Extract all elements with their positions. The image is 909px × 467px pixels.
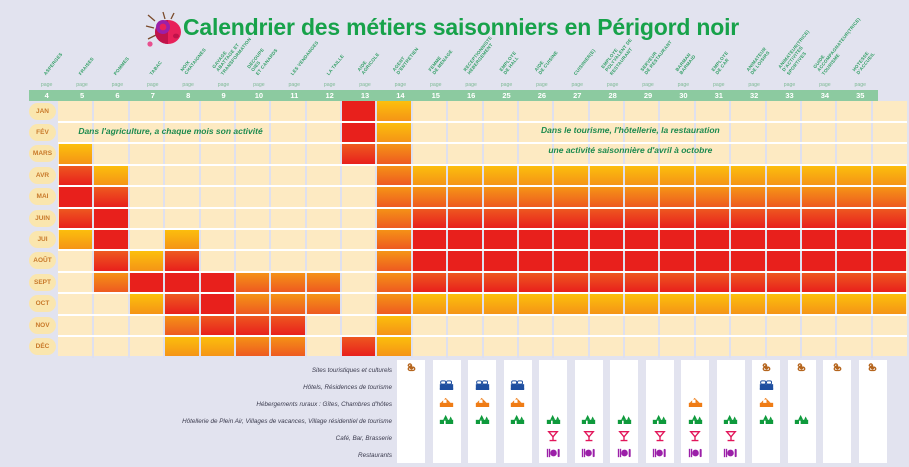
heat-cell[interactable] xyxy=(837,208,870,228)
grid-row-separator xyxy=(58,292,907,294)
column-header-6[interactable]: POMMESpage xyxy=(100,18,135,90)
heat-cell[interactable] xyxy=(519,251,552,271)
heat-cell[interactable] xyxy=(519,187,552,207)
heat-cell[interactable] xyxy=(448,208,481,228)
heat-cell[interactable] xyxy=(448,294,481,314)
heat-cell[interactable] xyxy=(377,315,410,335)
grid-row-separator xyxy=(58,249,907,251)
heat-cell[interactable] xyxy=(236,336,269,356)
column-header-12[interactable]: LA TAILLEpage xyxy=(312,18,347,90)
grid-row-separator xyxy=(58,185,907,187)
column-header-31[interactable]: EMPLOYEDE CARpage xyxy=(701,18,736,90)
heat-cell[interactable] xyxy=(696,208,729,228)
column-header-28[interactable]: EMPLOYEPOLYVALENT DERESTAURANTpage xyxy=(595,18,630,90)
heat-cell[interactable] xyxy=(554,208,587,228)
page-number-14[interactable]: 14 xyxy=(383,90,418,101)
column-header-35[interactable]: HOTESSED'ACCUEILpage xyxy=(843,18,878,90)
legend-icon-column[interactable] xyxy=(468,360,496,463)
heat-cell[interactable] xyxy=(201,294,234,314)
column-header-16[interactable]: RECEPTIONNISTEHEBERGEMENTpage xyxy=(454,18,489,90)
column-page-word: page xyxy=(737,82,772,88)
cocktail-glass-icon xyxy=(717,430,745,447)
heat-cell[interactable] xyxy=(802,294,835,314)
heat-cell[interactable] xyxy=(837,229,870,249)
heat-cell[interactable] xyxy=(696,187,729,207)
heat-cell[interactable] xyxy=(271,315,304,335)
heat-cell[interactable] xyxy=(767,272,800,292)
heat-cell[interactable] xyxy=(94,251,127,271)
heat-cell[interactable] xyxy=(767,165,800,185)
month-label-JAN[interactable]: JAN xyxy=(29,103,56,120)
heat-cell[interactable] xyxy=(448,272,481,292)
heat-cell[interactable] xyxy=(802,272,835,292)
heat-cell[interactable] xyxy=(413,251,446,271)
legend-label-hotel: Hôtels, Résidences de tourisme xyxy=(127,384,392,391)
column-page-word: page xyxy=(100,82,135,88)
page-number-15[interactable]: 15 xyxy=(418,90,453,101)
campsite-icon xyxy=(752,413,780,430)
legend-label-cutlery: Restaurants xyxy=(127,452,392,459)
heat-cell[interactable] xyxy=(873,187,906,207)
column-header-32[interactable]: ANIMATEURDE LOISIRSpage xyxy=(737,18,772,90)
heat-cell[interactable] xyxy=(696,229,729,249)
column-page-word: page xyxy=(630,82,665,88)
heat-cell[interactable] xyxy=(236,315,269,335)
rural-lodging-icon xyxy=(468,396,496,413)
hotel-icon xyxy=(433,379,461,396)
heat-cell[interactable] xyxy=(377,187,410,207)
heat-cell[interactable] xyxy=(660,229,693,249)
column-header-27[interactable]: CUISINIER(E)page xyxy=(560,18,595,90)
heat-cell[interactable] xyxy=(236,294,269,314)
grid-row-separator xyxy=(58,121,907,123)
heat-cell[interactable] xyxy=(484,165,517,185)
month-label-AOÛT[interactable]: AOÛT xyxy=(29,252,56,269)
heat-cell[interactable] xyxy=(413,229,446,249)
heat-cell[interactable] xyxy=(342,336,375,356)
heat-cell[interactable] xyxy=(413,208,446,228)
column-header-label: AIDEDE CUISINE xyxy=(533,47,559,76)
page-number-10[interactable]: 10 xyxy=(241,90,276,101)
legend-label-rural-lodging: Hébergements ruraux : Gîtes, Chambres d'… xyxy=(127,401,392,408)
heat-cell[interactable] xyxy=(201,272,234,292)
column-page-word: page xyxy=(454,82,489,88)
column-page-word: page xyxy=(807,82,842,88)
heat-cell[interactable] xyxy=(590,229,623,249)
legend-icon-column[interactable] xyxy=(433,360,461,463)
page-number-7[interactable]: 7 xyxy=(135,90,170,101)
page-number-33[interactable]: 33 xyxy=(772,90,807,101)
page-number-6[interactable]: 6 xyxy=(100,90,135,101)
cutlery-icon xyxy=(681,447,709,464)
heat-cell[interactable] xyxy=(731,229,764,249)
campsite-icon xyxy=(610,413,638,430)
heat-cell[interactable] xyxy=(307,272,340,292)
heat-cell[interactable] xyxy=(590,208,623,228)
campsite-icon xyxy=(575,413,603,430)
heat-cell[interactable] xyxy=(696,165,729,185)
sites-icon xyxy=(752,362,780,379)
heat-cell[interactable] xyxy=(802,251,835,271)
column-page-word: page xyxy=(560,82,595,88)
heat-cell[interactable] xyxy=(377,294,410,314)
heat-cell[interactable] xyxy=(484,294,517,314)
legend-icon-column[interactable] xyxy=(397,360,425,463)
legend-icon-column[interactable] xyxy=(610,360,638,463)
heat-cell[interactable] xyxy=(307,294,340,314)
cutlery-icon xyxy=(646,447,674,464)
heat-cell[interactable] xyxy=(484,229,517,249)
column-header-label: HOTESSED'ACCUEIL xyxy=(852,48,877,76)
heat-cell[interactable] xyxy=(625,187,658,207)
heat-cell[interactable] xyxy=(377,336,410,356)
month-label-JUIN[interactable]: JUIN xyxy=(29,210,56,227)
calendar-poster: Calendrier des métiers saisonniers en Pé… xyxy=(0,0,909,467)
heat-cell[interactable] xyxy=(94,187,127,207)
legend-icon-column[interactable] xyxy=(859,360,887,463)
heat-cell[interactable] xyxy=(413,294,446,314)
heat-cell[interactable] xyxy=(837,165,870,185)
cutlery-icon xyxy=(575,447,603,464)
hotel-icon xyxy=(504,379,532,396)
column-page-word: page xyxy=(524,82,559,88)
heat-cell[interactable] xyxy=(519,294,552,314)
month-label-MARS[interactable]: MARS xyxy=(29,145,56,162)
heat-cell[interactable] xyxy=(554,229,587,249)
page-number-25[interactable]: 25 xyxy=(489,90,524,101)
grid-row-separator xyxy=(58,164,907,166)
page-number-32[interactable]: 32 xyxy=(737,90,772,101)
heat-cell[interactable] xyxy=(377,101,410,121)
heat-cell[interactable] xyxy=(94,229,127,249)
column-page-word: page xyxy=(312,82,347,88)
heat-cell[interactable] xyxy=(873,208,906,228)
heat-cell[interactable] xyxy=(165,251,198,271)
campsite-icon xyxy=(433,413,461,430)
heat-cell[interactable] xyxy=(342,122,375,142)
heat-cell[interactable] xyxy=(165,315,198,335)
heat-cell[interactable] xyxy=(873,294,906,314)
tourism-note-line2: une activité saisonnière d'avril à octob… xyxy=(383,145,878,156)
heat-cell[interactable] xyxy=(554,272,587,292)
heat-cell[interactable] xyxy=(873,165,906,185)
column-header-33[interactable]: ANIMATEUR(TRICE)D'ACTIVITESSPORTIVESpage xyxy=(772,18,807,90)
heat-cell[interactable] xyxy=(59,208,92,228)
column-header-5[interactable]: FRAISESpage xyxy=(64,18,99,90)
campsite-icon xyxy=(717,413,745,430)
page-number-34[interactable]: 34 xyxy=(807,90,842,101)
heat-cell[interactable] xyxy=(590,294,623,314)
page-number-31[interactable]: 31 xyxy=(701,90,736,101)
legend-icon-column[interactable] xyxy=(823,360,851,463)
month-label-SEPT[interactable]: SEPT xyxy=(29,274,56,291)
heat-cell[interactable] xyxy=(731,187,764,207)
heat-cell[interactable] xyxy=(731,165,764,185)
column-header-label: FRAISES xyxy=(78,56,95,76)
rural-lodging-icon xyxy=(752,396,780,413)
rural-lodging-icon xyxy=(504,396,532,413)
month-label-NOV[interactable]: NOV xyxy=(29,317,56,334)
heat-cell[interactable] xyxy=(837,272,870,292)
heat-cell[interactable] xyxy=(519,272,552,292)
heat-cell[interactable] xyxy=(377,251,410,271)
heat-cell[interactable] xyxy=(484,251,517,271)
heat-cell[interactable] xyxy=(802,208,835,228)
heat-cell[interactable] xyxy=(731,208,764,228)
heat-cell[interactable] xyxy=(625,229,658,249)
heat-cell[interactable] xyxy=(484,187,517,207)
page-number-27[interactable]: 27 xyxy=(560,90,595,101)
heat-cell[interactable] xyxy=(767,229,800,249)
heat-cell[interactable] xyxy=(413,165,446,185)
page-number-9[interactable]: 9 xyxy=(206,90,241,101)
page-number-11[interactable]: 11 xyxy=(277,90,312,101)
column-header-8[interactable]: NOIXCHATAIGNESpage xyxy=(171,18,206,90)
legend-icon-column[interactable] xyxy=(575,360,603,463)
heat-cell[interactable] xyxy=(767,208,800,228)
heat-cell[interactable] xyxy=(767,187,800,207)
heat-cell[interactable] xyxy=(660,187,693,207)
campsite-icon xyxy=(788,413,816,430)
heat-cell[interactable] xyxy=(873,251,906,271)
heat-cell[interactable] xyxy=(590,251,623,271)
heat-cell[interactable] xyxy=(59,144,92,164)
heat-cell[interactable] xyxy=(94,165,127,185)
campsite-icon xyxy=(681,413,709,430)
heat-cell[interactable] xyxy=(377,272,410,292)
cocktail-glass-icon xyxy=(646,430,674,447)
column-header-30[interactable]: BARMANBARMAIDpage xyxy=(666,18,701,90)
sites-icon xyxy=(788,362,816,379)
legend-icon-column[interactable] xyxy=(504,360,532,463)
heat-cell[interactable] xyxy=(201,315,234,335)
column-header-26[interactable]: AIDEDE CUISINEpage xyxy=(524,18,559,90)
heat-cell[interactable] xyxy=(165,272,198,292)
heat-cell[interactable] xyxy=(660,294,693,314)
month-label-JUI[interactable]: JUI xyxy=(29,231,56,248)
heat-cell[interactable] xyxy=(342,144,375,164)
heat-cell[interactable] xyxy=(767,251,800,271)
heat-cell[interactable] xyxy=(873,229,906,249)
column-page-word: page xyxy=(666,82,701,88)
column-header-10[interactable]: DECOUPEOIESET CANARDSpage xyxy=(241,18,276,90)
page-number-12[interactable]: 12 xyxy=(312,90,347,101)
heat-cell[interactable] xyxy=(377,208,410,228)
heat-cell[interactable] xyxy=(696,272,729,292)
legend-icon-column[interactable] xyxy=(539,360,567,463)
page-number-28[interactable]: 28 xyxy=(595,90,630,101)
heat-cell[interactable] xyxy=(554,294,587,314)
heat-cell[interactable] xyxy=(731,294,764,314)
column-page-word: page xyxy=(171,82,206,88)
hotel-icon xyxy=(468,379,496,396)
heat-cell[interactable] xyxy=(448,251,481,271)
heat-cell[interactable] xyxy=(342,101,375,121)
cutlery-icon xyxy=(610,447,638,464)
cocktail-glass-icon xyxy=(681,430,709,447)
sites-icon xyxy=(397,362,425,379)
heat-cell[interactable] xyxy=(590,272,623,292)
column-header-7[interactable]: TABACpage xyxy=(135,18,170,90)
legend-icon-column[interactable] xyxy=(681,360,709,463)
column-header-29[interactable]: SERVEURDE RESTAURANTpage xyxy=(630,18,665,90)
heat-cell[interactable] xyxy=(696,251,729,271)
sites-icon xyxy=(823,362,851,379)
heat-cell[interactable] xyxy=(660,272,693,292)
page-number-5[interactable]: 5 xyxy=(64,90,99,101)
page-number-26[interactable]: 26 xyxy=(524,90,559,101)
page-number-29[interactable]: 29 xyxy=(630,90,665,101)
column-header-label: EMPLOYEDE CAR xyxy=(710,51,733,76)
legend-label-cocktail-glass: Café, Bar, Brasserie xyxy=(127,435,392,442)
column-page-word: page xyxy=(383,82,418,88)
page-number-4[interactable]: 4 xyxy=(29,90,64,101)
column-header-label: ANIMATEURDE LOISIRS xyxy=(746,46,772,76)
heat-cell[interactable] xyxy=(377,229,410,249)
page-number-8[interactable]: 8 xyxy=(171,90,206,101)
heat-cell[interactable] xyxy=(802,165,835,185)
column-header-34[interactable]: GUIDEACCOMPAGNATEUR(TRICE)TOURISMEpage xyxy=(807,18,842,90)
column-page-word: page xyxy=(206,82,241,88)
heat-cell[interactable] xyxy=(590,187,623,207)
heat-cell[interactable] xyxy=(519,229,552,249)
heat-cell[interactable] xyxy=(625,165,658,185)
month-label-MAI[interactable]: MAI xyxy=(29,188,56,205)
heat-cell[interactable] xyxy=(837,251,870,271)
heat-cell[interactable] xyxy=(767,294,800,314)
heat-cell[interactable] xyxy=(130,251,163,271)
column-page-word: page xyxy=(135,82,170,88)
heat-cell[interactable] xyxy=(165,294,198,314)
heat-cell[interactable] xyxy=(377,165,410,185)
column-header-25[interactable]: EMPLOYEDE HALLpage xyxy=(489,18,524,90)
page-number-16[interactable]: 16 xyxy=(454,90,489,101)
legend-icon-column[interactable] xyxy=(752,360,780,463)
grid-row-separator xyxy=(58,335,907,337)
campsite-icon xyxy=(539,413,567,430)
column-header-13[interactable]: AIDEAGRICOLEpage xyxy=(347,18,382,90)
column-page-word: page xyxy=(347,82,382,88)
heat-cell[interactable] xyxy=(484,272,517,292)
grid-row-separator xyxy=(58,228,907,230)
heat-cell[interactable] xyxy=(660,208,693,228)
heat-cell[interactable] xyxy=(201,336,234,356)
legend-icon-column[interactable] xyxy=(717,360,745,463)
heat-cell[interactable] xyxy=(554,187,587,207)
heat-cell[interactable] xyxy=(554,251,587,271)
column-page-word: page xyxy=(277,82,312,88)
heat-cell[interactable] xyxy=(271,294,304,314)
cocktail-glass-icon xyxy=(539,430,567,447)
heat-cell[interactable] xyxy=(625,251,658,271)
column-header-9[interactable]: GAVAGEABATTAGE ETTRANSFORMATIONpage xyxy=(206,18,241,90)
column-header-label: BARMANBARMAID xyxy=(675,51,698,76)
heat-cell[interactable] xyxy=(660,251,693,271)
heat-cell[interactable] xyxy=(130,272,163,292)
page-number-13[interactable]: 13 xyxy=(347,90,382,101)
heat-cell[interactable] xyxy=(59,229,92,249)
month-label-OCT[interactable]: OCT xyxy=(29,295,56,312)
heat-cell[interactable] xyxy=(59,165,92,185)
heat-cell[interactable] xyxy=(413,272,446,292)
heat-cell[interactable] xyxy=(837,187,870,207)
heat-cell[interactable] xyxy=(59,187,92,207)
heat-cell[interactable] xyxy=(519,208,552,228)
column-headers: ASPERGESpageFRAISESpagePOMMESpageTABACpa… xyxy=(0,18,909,90)
rural-lodging-icon xyxy=(433,396,461,413)
heat-cell[interactable] xyxy=(731,272,764,292)
heat-cell[interactable] xyxy=(802,187,835,207)
heat-cell[interactable] xyxy=(660,165,693,185)
page-number-strip: 4567891011121314151625262728293031323334… xyxy=(29,90,878,101)
column-header-15[interactable]: FEMMEDE MENAGEpage xyxy=(418,18,453,90)
heat-cell[interactable] xyxy=(696,294,729,314)
campsite-icon xyxy=(504,413,532,430)
legend-label-campsite: Hôtellerie de Plein Air, Villages de vac… xyxy=(127,418,392,425)
column-page-word: page xyxy=(241,82,276,88)
page-number-35[interactable]: 35 xyxy=(843,90,878,101)
heat-cell[interactable] xyxy=(625,272,658,292)
heat-cell[interactable] xyxy=(484,208,517,228)
heat-cell[interactable] xyxy=(271,336,304,356)
grid-row-separator xyxy=(58,207,907,209)
heat-cell[interactable] xyxy=(448,165,481,185)
heat-cell[interactable] xyxy=(625,208,658,228)
heat-cell[interactable] xyxy=(165,229,198,249)
column-page-word: page xyxy=(772,82,807,88)
heat-cell[interactable] xyxy=(165,336,198,356)
agriculture-note: Dans l'agriculture, a chaque mois son ac… xyxy=(29,126,312,137)
cutlery-icon xyxy=(717,447,745,464)
heat-cell[interactable] xyxy=(590,165,623,185)
heat-cell[interactable] xyxy=(554,165,587,185)
column-header-14[interactable]: AGENTD'ENTRETIENpage xyxy=(383,18,418,90)
heat-cell[interactable] xyxy=(94,208,127,228)
heat-cell[interactable] xyxy=(94,272,127,292)
grid-row-separator xyxy=(58,314,907,316)
column-header-11[interactable]: LES VENDANGESpage xyxy=(277,18,312,90)
month-label-AVR[interactable]: AVR xyxy=(29,167,56,184)
column-header-label: EMPLOYEDE HALL xyxy=(498,51,521,76)
column-page-word: page xyxy=(64,82,99,88)
heat-cell[interactable] xyxy=(873,272,906,292)
heat-cell[interactable] xyxy=(625,294,658,314)
column-header-label: TABAC xyxy=(149,59,164,76)
column-header-4[interactable]: ASPERGESpage xyxy=(29,18,64,90)
column-header-label: LA TAILLE xyxy=(325,53,345,76)
heat-cell[interactable] xyxy=(837,294,870,314)
column-header-label: ASPERGES xyxy=(42,51,63,76)
heat-cell[interactable] xyxy=(802,229,835,249)
page-number-30[interactable]: 30 xyxy=(666,90,701,101)
grid-row-separator xyxy=(58,271,907,273)
legend-icon-column[interactable] xyxy=(646,360,674,463)
cocktail-glass-icon xyxy=(610,430,638,447)
month-label-DÉC[interactable]: DÉC xyxy=(29,338,56,355)
legend-icon-column[interactable] xyxy=(788,360,816,463)
heat-cell[interactable] xyxy=(413,187,446,207)
heat-cell[interactable] xyxy=(519,165,552,185)
heat-cell[interactable] xyxy=(271,272,304,292)
heat-cell[interactable] xyxy=(731,251,764,271)
heat-cell[interactable] xyxy=(448,187,481,207)
heat-cell[interactable] xyxy=(448,229,481,249)
column-header-label: AIDEAGRICOLE xyxy=(357,49,381,76)
tourism-note-line1: Dans le tourisme, l'hôtellerie, la resta… xyxy=(383,125,878,136)
heat-cell[interactable] xyxy=(236,272,269,292)
column-page-word: page xyxy=(489,82,524,88)
heat-cell[interactable] xyxy=(130,294,163,314)
